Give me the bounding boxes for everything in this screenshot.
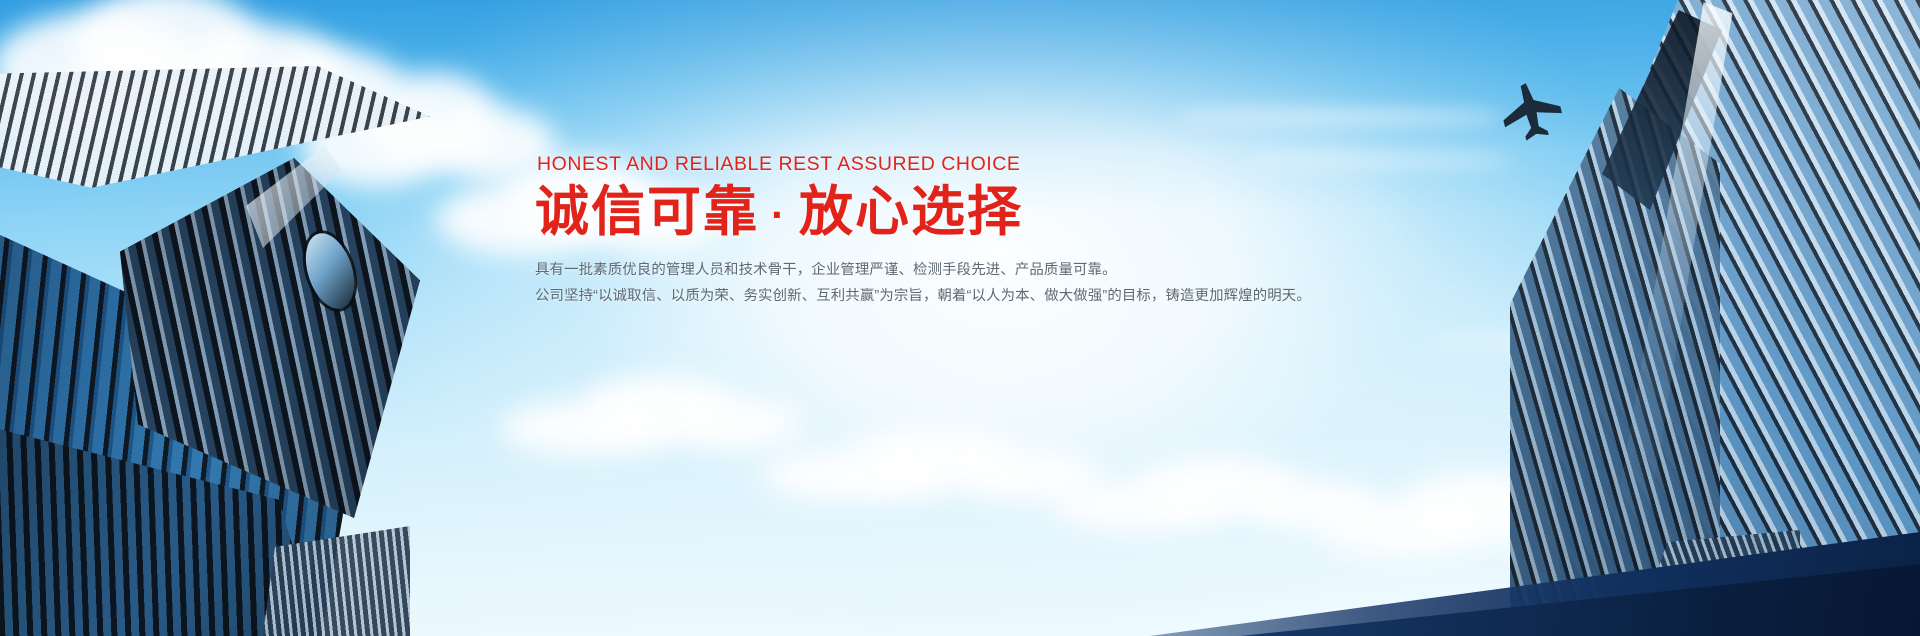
description-line-2: 公司坚持“以诚取信、以质为荣、务实创新、互利共赢”为宗旨，朝着“以人为本、做大做… — [535, 283, 1355, 309]
headline-part-right: 放心选择 — [799, 182, 1023, 242]
headline-part-left: 诚信可靠 — [535, 182, 759, 242]
corporate-hero-banner: HONEST AND RELIABLE REST ASSURED CHOICE … — [0, 0, 1920, 636]
banner-copy-block: HONEST AND RELIABLE REST ASSURED CHOICE … — [535, 155, 1355, 309]
headline: 诚信可靠·放心选择 — [535, 184, 1355, 241]
description-line-1: 具有一批素质优良的管理人员和技术骨干，企业管理严谨、检测手段先进、产品质量可靠。 — [535, 257, 1355, 283]
headline-separator-dot: · — [759, 191, 799, 238]
english-tagline: HONEST AND RELIABLE REST ASSURED CHOICE — [537, 155, 1355, 175]
glass-skyscraper-left — [0, 66, 430, 636]
description-block: 具有一批素质优良的管理人员和技术骨干，企业管理严谨、检测手段先进、产品质量可靠。… — [535, 257, 1355, 309]
